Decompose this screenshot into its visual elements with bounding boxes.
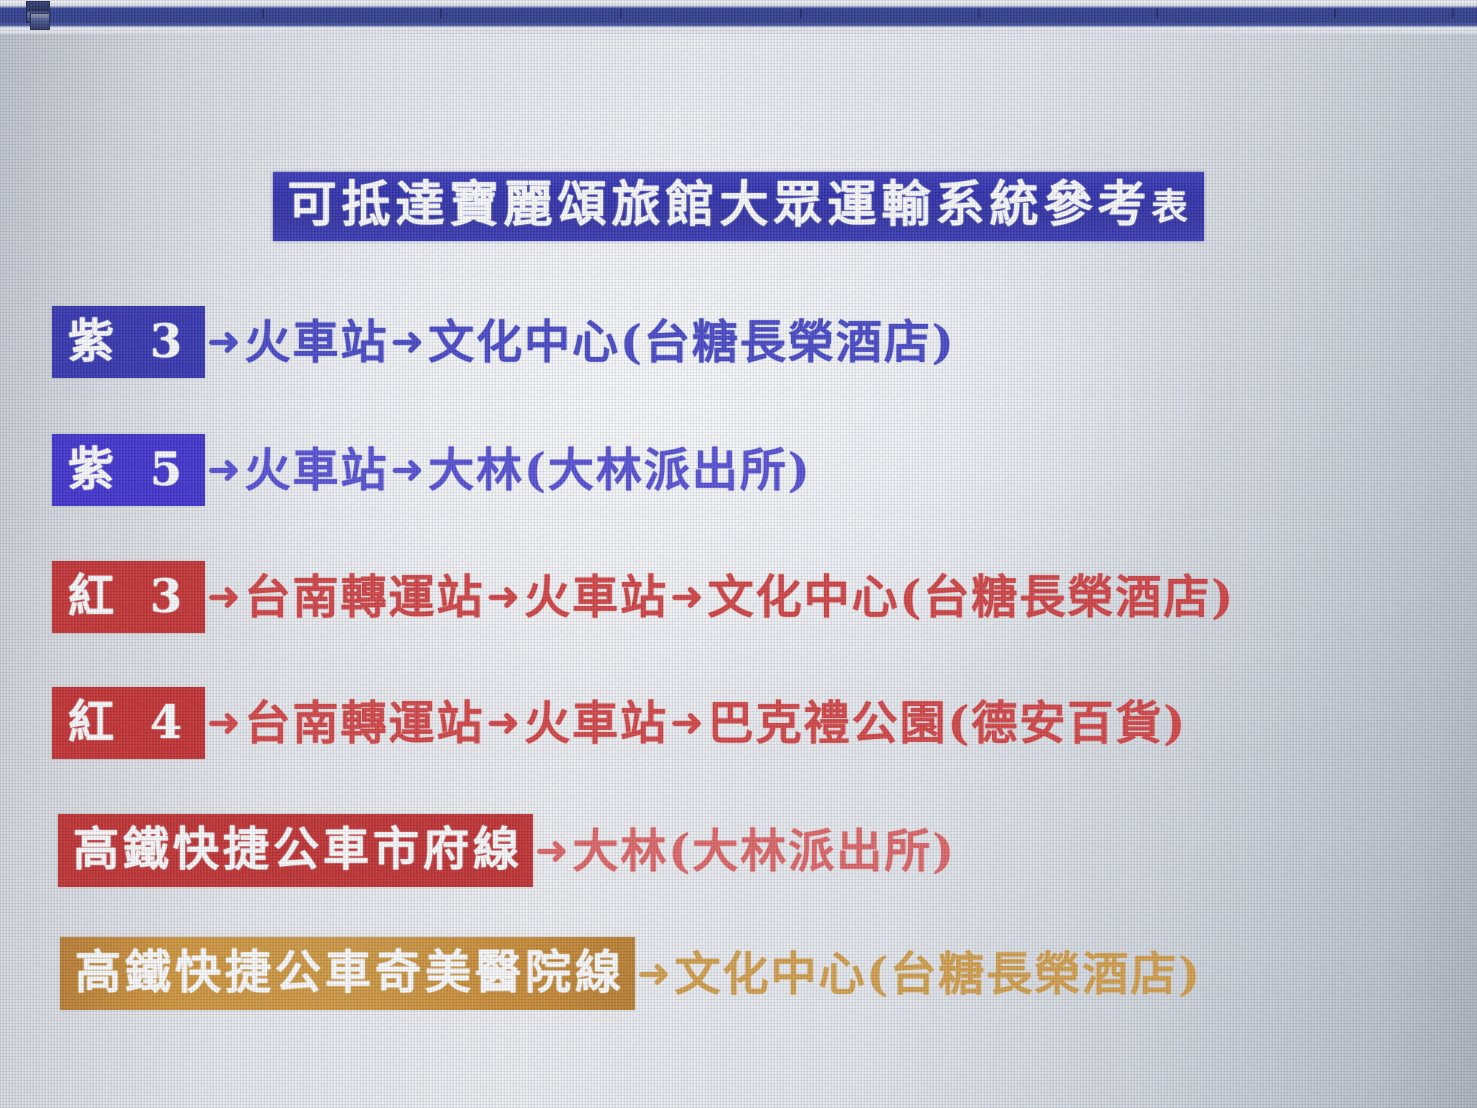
route-row[interactable]: 紫 5 ➜ 火車站 ➜ 大林(大林派出所) xyxy=(52,434,812,506)
route-row[interactable]: 高鐵快捷公車市府線 ➜ 大林(大林派出所) xyxy=(58,814,956,887)
ruler-tick xyxy=(1334,9,1336,18)
route-badge-purple-5: 紫 5 xyxy=(52,434,205,506)
route-stop: 巴克禮公園(德安百貨) xyxy=(706,700,1188,746)
route-badge-purple-3: 紫 3 xyxy=(52,306,205,378)
arrow-icon: ➜ xyxy=(205,450,243,490)
arrow-icon: ➜ xyxy=(205,703,243,743)
route-row[interactable]: 高鐵快捷公車奇美醫院線 ➜ 文化中心(台糖長榮酒店) xyxy=(60,937,1202,1010)
route-stop: 火車站 xyxy=(522,574,668,620)
arrow-icon: ➜ xyxy=(668,577,706,617)
route-stop: 台南轉運站 xyxy=(243,574,485,620)
route-row[interactable]: 紅 4 ➜ 台南轉運站 ➜ 火車站 ➜ 巴克禮公園(德安百貨) xyxy=(52,687,1187,759)
document-body: 可抵達寶麗頌旅館大眾運輸系統參考表 紫 3 ➜ 火車站 ➜ 文化中心(台糖長榮酒… xyxy=(0,34,1477,1108)
first-line-indent-marker[interactable] xyxy=(30,13,50,30)
page-title-main: 可抵達寶麗頌旅館大眾運輸系統參考 xyxy=(287,175,1151,233)
screen-photo: 可抵達寶麗頌旅館大眾運輸系統參考表 紫 3 ➜ 火車站 ➜ 文化中心(台糖長榮酒… xyxy=(0,0,1477,1108)
arrow-icon: ➜ xyxy=(485,703,523,743)
route-badge-hsr-chimei-hospital: 高鐵快捷公車奇美醫院線 xyxy=(60,937,635,1010)
arrow-icon: ➜ xyxy=(389,322,427,362)
page-title-tail: 表 xyxy=(1152,186,1190,228)
arrow-icon: ➜ xyxy=(485,577,523,617)
ruler-tick xyxy=(262,9,264,18)
arrow-icon: ➜ xyxy=(389,450,427,490)
route-badge-red-3: 紅 3 xyxy=(52,561,205,633)
ruler-tick xyxy=(440,9,442,18)
route-stop: 文化中心(台糖長榮酒店) xyxy=(706,574,1236,620)
ruler-tick xyxy=(800,9,802,18)
page-title: 可抵達寶麗頌旅館大眾運輸系統參考表 xyxy=(273,172,1203,241)
horizontal-ruler[interactable] xyxy=(0,0,1477,34)
arrow-icon: ➜ xyxy=(668,703,706,743)
route-stop: 火車站 xyxy=(522,700,668,746)
route-badge-hsr-city-hall: 高鐵快捷公車市府線 xyxy=(58,814,533,887)
route-row[interactable]: 紫 3 ➜ 火車站 ➜ 文化中心(台糖長榮酒店) xyxy=(52,306,956,378)
route-stop: 台南轉運站 xyxy=(243,700,485,746)
ruler-tick xyxy=(620,9,622,18)
ruler-tick xyxy=(1156,9,1158,18)
arrow-icon: ➜ xyxy=(635,954,673,994)
route-stop: 大林(大林派出所) xyxy=(426,447,812,493)
route-stop: 大林(大林派出所) xyxy=(571,828,957,874)
route-badge-red-4: 紅 4 xyxy=(52,687,205,759)
arrow-icon: ➜ xyxy=(533,831,571,871)
title-row: 可抵達寶麗頌旅館大眾運輸系統參考表 xyxy=(0,172,1477,241)
arrow-icon: ➜ xyxy=(205,322,243,362)
route-stop: 火車站 xyxy=(243,447,389,493)
arrow-icon: ➜ xyxy=(205,577,243,617)
ruler-tick xyxy=(1452,9,1454,18)
route-row[interactable]: 紅 3 ➜ 台南轉運站 ➜ 火車站 ➜ 文化中心(台糖長榮酒店) xyxy=(52,561,1235,633)
route-stop: 文化中心(台糖長榮酒店) xyxy=(673,951,1203,997)
ruler-tick xyxy=(978,9,980,18)
route-stop: 文化中心(台糖長榮酒店) xyxy=(426,319,956,365)
route-stop: 火車站 xyxy=(243,319,389,365)
